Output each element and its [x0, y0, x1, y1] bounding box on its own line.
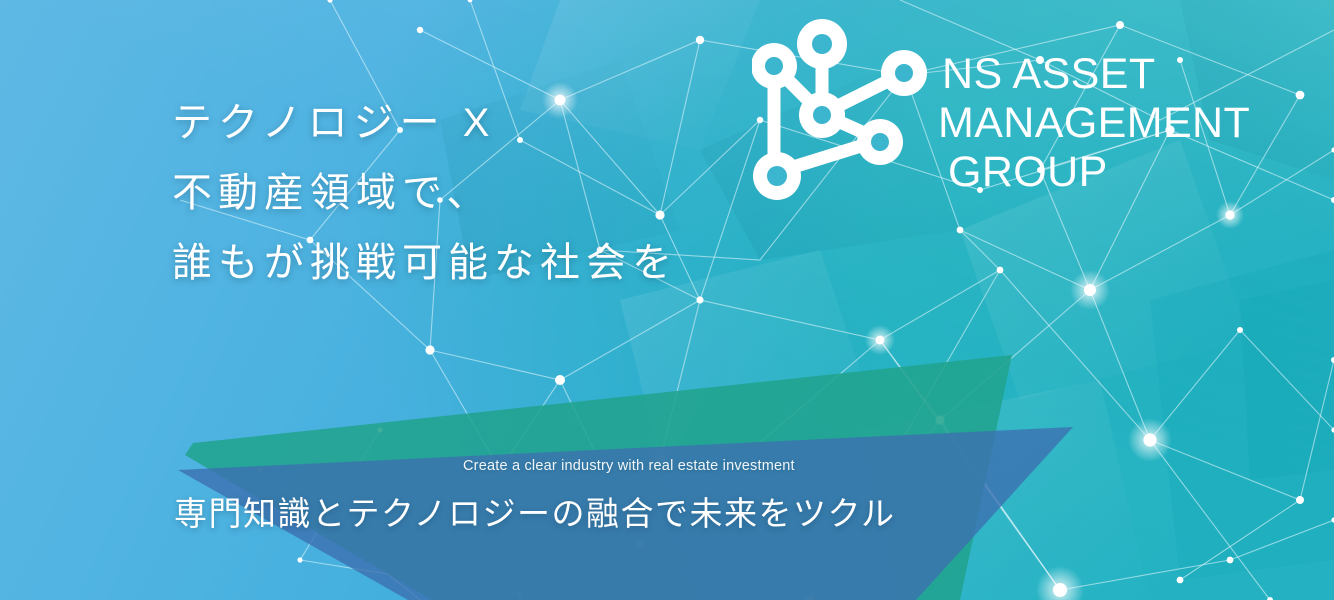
network-nodes-logo-mark-icon	[752, 18, 932, 203]
tagline-english: Create a clear industry with real estate…	[463, 458, 795, 474]
company-logo: NS ASSET MANAGEMENT GROUP	[752, 18, 1322, 208]
tagline-japanese: 専門知識とテクノロジーの融合で未来をツクル	[174, 487, 896, 535]
logo-word-line-2: MANAGEMENT	[938, 99, 1250, 148]
hero-headline: テクノロジー X 不動産領域で、 誰もが挑戦可能な社会を	[172, 88, 678, 298]
headline-line-3: 誰もが挑戦可能な社会を	[172, 228, 678, 298]
headline-line-2: 不動産領域で、	[172, 158, 678, 228]
logo-word-line-3: GROUP	[938, 148, 1250, 197]
logo-wordmark: NS ASSET MANAGEMENT GROUP	[938, 50, 1250, 197]
headline-line-1: テクノロジー X	[172, 88, 678, 158]
hero-banner: テクノロジー X 不動産領域で、 誰もが挑戦可能な社会を	[0, 0, 1334, 600]
logo-word-line-1: NS ASSET	[938, 50, 1250, 99]
